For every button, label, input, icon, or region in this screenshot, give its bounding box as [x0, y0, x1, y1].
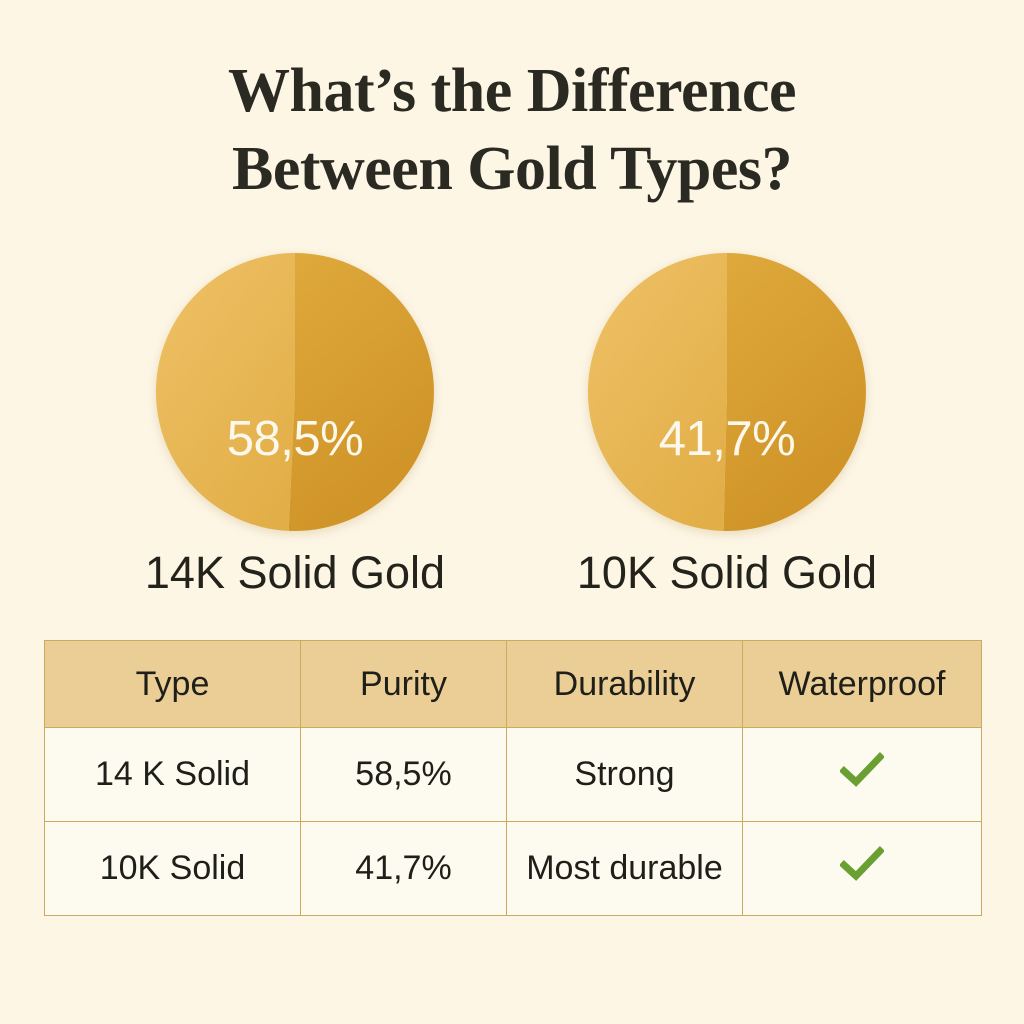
- gold-types-infographic: What’s the Difference Between Gold Types…: [0, 0, 1024, 1024]
- pie-chart-14k: 58,5%: [156, 253, 434, 531]
- cell-durability-14k: Strong: [507, 728, 743, 822]
- cell-waterproof-10k: [743, 822, 982, 916]
- page-title-line-2: Between Gold Types?: [0, 130, 1024, 208]
- cell-durability-10k: Most durable: [507, 822, 743, 916]
- check-icon: [840, 846, 884, 891]
- column-header-type: Type: [45, 641, 301, 728]
- cell-purity-14k: 58,5%: [301, 728, 507, 822]
- page-title-line-1: What’s the Difference: [0, 52, 1024, 130]
- pie-chart-14k-graphic: [156, 253, 434, 531]
- table-header-row: Type Purity Durability Waterproof: [45, 641, 982, 728]
- column-header-purity: Purity: [301, 641, 507, 728]
- cell-type-10k: 10K Solid: [45, 822, 301, 916]
- pie-caption-group: 14K Solid Gold 10K Solid Gold: [0, 545, 1024, 605]
- table-row: 10K Solid 41,7% Most durable: [45, 822, 982, 916]
- pie-chart-10k: 41,7%: [588, 253, 866, 531]
- page-title: What’s the Difference Between Gold Types…: [0, 52, 1024, 208]
- pie-caption-10k: 10K Solid Gold: [512, 545, 942, 601]
- pie-chart-14k-value: 58,5%: [156, 411, 434, 467]
- cell-purity-10k: 41,7%: [301, 822, 507, 916]
- table-body: 14 K Solid 58,5% Strong 10K Solid 41,7%: [45, 728, 982, 916]
- pie-chart-10k-value: 41,7%: [588, 411, 866, 467]
- pie-chart-10k-graphic: [588, 253, 866, 531]
- cell-waterproof-14k: [743, 728, 982, 822]
- column-header-durability: Durability: [507, 641, 743, 728]
- table-row: 14 K Solid 58,5% Strong: [45, 728, 982, 822]
- pie-chart-group: 58,5% 41,7%: [0, 253, 1024, 533]
- table-header: Type Purity Durability Waterproof: [45, 641, 982, 728]
- comparison-table-wrapper: Type Purity Durability Waterproof 14 K S…: [44, 640, 981, 916]
- column-header-waterproof: Waterproof: [743, 641, 982, 728]
- comparison-table: Type Purity Durability Waterproof 14 K S…: [44, 640, 982, 916]
- cell-type-14k: 14 K Solid: [45, 728, 301, 822]
- pie-caption-14k: 14K Solid Gold: [80, 545, 510, 601]
- check-icon: [840, 752, 884, 797]
